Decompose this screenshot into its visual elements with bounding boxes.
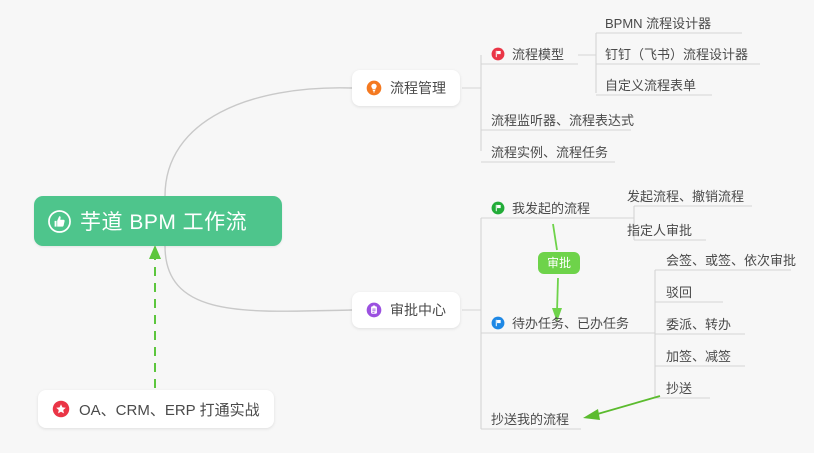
flow-arrow-approval-lower [557, 278, 558, 312]
topic-bpmn-designer[interactable]: BPMN 流程设计器 [605, 14, 711, 31]
topic-label-cc-to-me: 抄送我的流程 [491, 409, 569, 428]
note-label-integration: OA、CRM、ERP 打通实战 [79, 399, 260, 420]
topic-label-custom-form: 自定义流程表单 [605, 75, 696, 94]
flag-icon [491, 316, 505, 330]
branch-label-process-management: 流程管理 [390, 78, 446, 98]
topic-my-initiated[interactable]: 我发起的流程 [491, 199, 590, 216]
note-card-integration[interactable]: OA、CRM、ERP 打通实战 [38, 390, 274, 428]
topic-label-delegate: 委派、转办 [666, 314, 731, 333]
topic-label-assignee-approve: 指定人审批 [627, 220, 692, 239]
branch-card-approval-center[interactable]: 审批中心 [352, 292, 460, 328]
topic-cc[interactable]: 抄送 [666, 379, 692, 396]
topic-add-remove-sign[interactable]: 加签、减签 [666, 347, 731, 364]
topic-assignee-approve[interactable]: 指定人审批 [627, 221, 692, 238]
edge-root-to-approval-center [165, 246, 352, 311]
topic-label-countersign: 会签、或签、依次审批 [666, 250, 796, 269]
topic-countersign[interactable]: 会签、或签、依次审批 [666, 251, 796, 268]
topic-label-start-cancel: 发起流程、撤销流程 [627, 186, 744, 205]
topic-process-instance[interactable]: 流程实例、流程任务 [491, 143, 608, 160]
root-node[interactable]: 芋道 BPM 工作流 [34, 196, 282, 246]
topic-cc-to-me[interactable]: 抄送我的流程 [491, 410, 569, 427]
lightbulb-icon [366, 80, 382, 96]
edge-todo-done-bracket [645, 270, 655, 398]
topic-label-process-listener: 流程监听器、流程表达式 [491, 110, 634, 129]
flow-arrowhead-cc [583, 409, 600, 420]
flow-arrow-cc [594, 396, 660, 415]
branch-label-approval-center: 审批中心 [390, 300, 446, 320]
edge-root-to-process-management [165, 88, 352, 196]
topic-label-todo-done: 待办任务、已办任务 [512, 313, 629, 332]
topic-label-reject: 驳回 [666, 282, 692, 301]
clipboard-icon [366, 302, 382, 318]
edge-process-management-bracket [462, 55, 481, 151]
branch-card-process-management[interactable]: 流程管理 [352, 70, 460, 106]
flag-icon [491, 201, 505, 215]
topic-reject[interactable]: 驳回 [666, 283, 692, 300]
topic-label-add-remove-sign: 加签、减签 [666, 346, 731, 365]
edge-process-model-bracket [578, 33, 596, 93]
topic-process-model[interactable]: 流程模型 [491, 45, 564, 62]
edge-approval-center-bracket [462, 218, 481, 429]
topic-label-process-instance: 流程实例、流程任务 [491, 142, 608, 161]
topic-label-dingtalk-designer: 钉钉（飞书）流程设计器 [605, 44, 748, 63]
flow-arrow-approval [553, 224, 557, 250]
flow-arrowhead-note [149, 245, 161, 259]
topic-custom-form[interactable]: 自定义流程表单 [605, 76, 696, 93]
topic-start-cancel[interactable]: 发起流程、撤销流程 [627, 187, 744, 204]
flow-label-approval: 审批 [538, 252, 580, 274]
topic-label-my-initiated: 我发起的流程 [512, 198, 590, 217]
topic-delegate[interactable]: 委派、转办 [666, 315, 731, 332]
topic-label-process-model: 流程模型 [512, 44, 564, 63]
flag-icon [491, 47, 505, 61]
star-icon [52, 400, 70, 418]
topic-label-cc: 抄送 [666, 378, 692, 397]
topic-dingtalk-designer[interactable]: 钉钉（飞书）流程设计器 [605, 45, 748, 62]
topic-process-listener[interactable]: 流程监听器、流程表达式 [491, 111, 634, 128]
thumbs-up-icon [48, 210, 71, 233]
root-label: 芋道 BPM 工作流 [80, 206, 247, 236]
topic-todo-done[interactable]: 待办任务、已办任务 [491, 314, 629, 331]
mindmap-canvas: 芋道 BPM 工作流 流程管理 审批中心 OA、CRM、ERP 打通实战 [0, 0, 814, 453]
topic-label-bpmn-designer: BPMN 流程设计器 [605, 13, 711, 32]
